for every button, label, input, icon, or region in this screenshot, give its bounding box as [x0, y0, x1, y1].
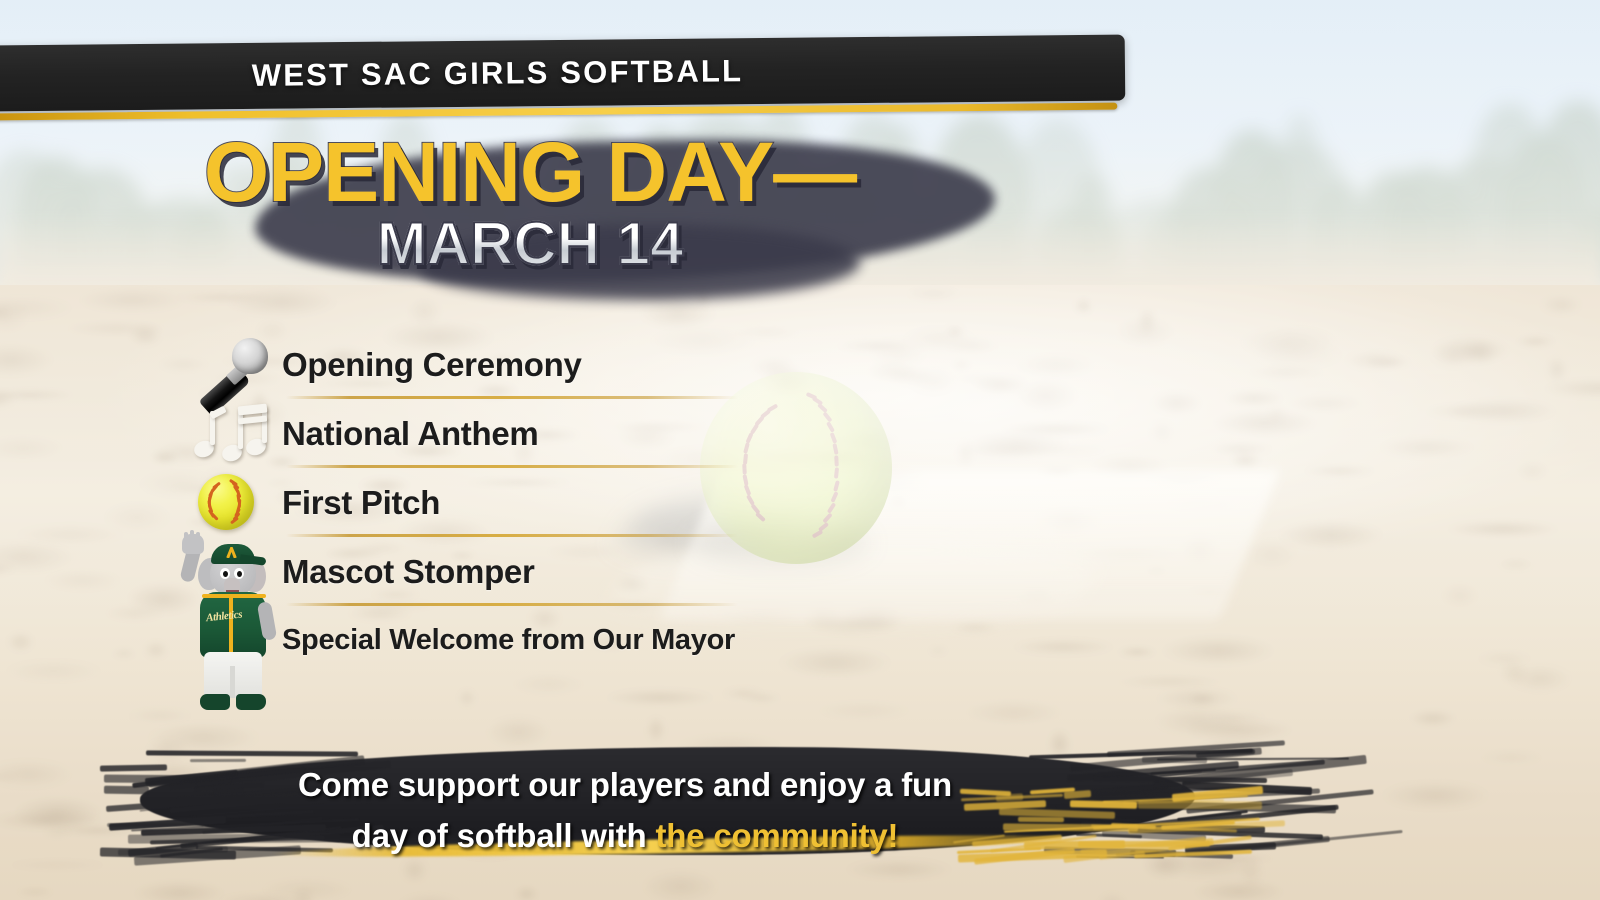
- footer-highlight: the community!: [655, 817, 898, 854]
- list-item: Special Welcome from Our Mayor: [186, 606, 886, 674]
- microphone-icon: [186, 330, 282, 399]
- mascot-finger: [196, 532, 200, 543]
- mascot-stomper-graphic: Athletics: [182, 532, 278, 714]
- mascot-pupil: [223, 571, 228, 577]
- mascot-pants-seam: [230, 666, 235, 698]
- softball-body: [198, 474, 254, 530]
- list-item: National Anthem: [186, 399, 886, 468]
- list-item-label: Opening Ceremony: [282, 346, 582, 384]
- list-item: Mascot Stomper: [186, 537, 886, 606]
- footer-line-1: Come support our players and enjoy a fun: [120, 759, 1130, 810]
- softball-seam: [230, 516, 239, 524]
- hero-title-block: OPENING DAY— MARCH 14: [0, 133, 1060, 278]
- mascot-jersey-collar: [202, 594, 266, 598]
- header-title: WEST SAC GIRLS SOFTBALL: [0, 50, 1125, 97]
- list-item: Opening Ceremony: [186, 330, 886, 399]
- list-item-label: National Anthem: [282, 415, 538, 453]
- list-item-label: First Pitch: [282, 484, 440, 522]
- event-date: MARCH 14: [0, 209, 1060, 278]
- mascot-pupil: [237, 571, 242, 577]
- list-item: First Pitch: [186, 468, 886, 537]
- mascot-finger: [184, 532, 188, 543]
- footer-line-2-prefix: day of softball with: [352, 817, 656, 854]
- note-flag: [209, 406, 226, 420]
- event-title: OPENING DAY—: [0, 133, 1060, 213]
- mascot-jersey-placket: [229, 594, 233, 656]
- gold-bristle: [1138, 801, 1262, 810]
- mascot-shoe: [200, 694, 230, 710]
- footer-line-2: day of softball with the community!: [120, 810, 1130, 861]
- list-item-label: Special Welcome from Our Mayor: [282, 624, 735, 657]
- softball-icon: [186, 468, 282, 537]
- music-notes-icon: [186, 399, 282, 468]
- mascot-shoe: [236, 694, 266, 710]
- agenda-list: Opening Ceremony National Anthem First P…: [186, 330, 886, 674]
- footer-banner: Come support our players and enjoy a fun…: [120, 735, 1230, 885]
- footer-text: Come support our players and enjoy a fun…: [120, 759, 1130, 861]
- header-banner: WEST SAC GIRLS SOFTBALL: [0, 35, 1125, 112]
- mascot-jersey: [200, 592, 266, 658]
- list-item-label: Mascot Stomper: [282, 553, 535, 591]
- brush-bristle: [146, 751, 358, 757]
- microphone-grille: [232, 338, 268, 374]
- mascot-finger: [190, 530, 194, 543]
